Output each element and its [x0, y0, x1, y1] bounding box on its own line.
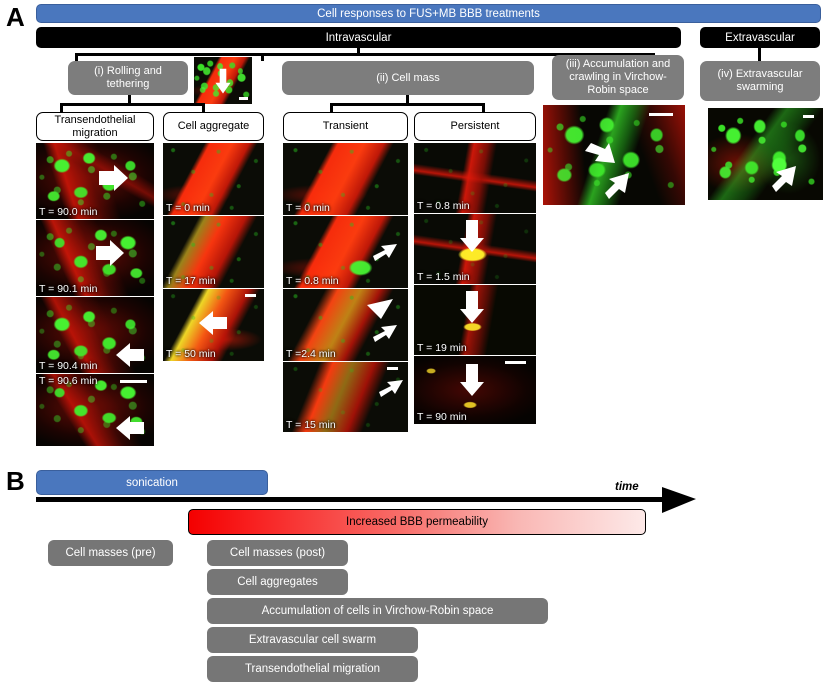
scale-bar: [120, 380, 147, 383]
frame-cell-aggregate-1: T = 0 min: [163, 143, 264, 215]
timestamp: T = 90.0 min: [39, 206, 97, 218]
panel-a-letter: A: [6, 4, 25, 30]
frame-persistent-1: T = 0.8 min: [414, 143, 536, 213]
timestamp: T = 0.8 min: [417, 200, 470, 212]
virchow-robin-image: [543, 105, 685, 205]
frame-transendothelial-4: T = 90.6 min: [36, 374, 154, 446]
time-axis-line: [36, 497, 676, 502]
time-axis-arrowhead: [662, 483, 698, 517]
connector-line: [758, 48, 761, 61]
category-extravascular-swarming: (iv) Extravascular swarming: [700, 61, 820, 101]
frame-transendothelial-3: T = 90.4 min: [36, 297, 154, 373]
timestamp: T = 15 min: [286, 419, 336, 431]
frame-transendothelial-2: T = 90.1 min: [36, 220, 154, 296]
event-bar-cell-aggregates: Cell aggregates: [207, 569, 348, 595]
event-bar-transendothelial-migration: Transendothelial migration: [207, 656, 418, 682]
category-rolling-tethering: (i) Rolling and tethering: [68, 61, 188, 95]
connector-line: [357, 48, 360, 54]
scale-bar: [245, 294, 256, 297]
frame-persistent-3: T = 19 min: [414, 285, 536, 355]
timestamp: T = 50 min: [166, 348, 216, 360]
timestamp: T = 0 min: [166, 202, 210, 214]
connector-line: [330, 103, 485, 106]
sonication-bar: sonication: [36, 470, 268, 495]
panel-a-title-bar: Cell responses to FUS+MB BBB treatments: [36, 4, 821, 23]
scale-bar: [505, 361, 526, 364]
extravascular-swarm-image: [708, 108, 823, 200]
timestamp: T = 1.5 min: [417, 271, 470, 283]
rolling-tethering-inset-image: [194, 57, 252, 104]
frame-cell-aggregate-3: T = 50 min: [163, 289, 264, 361]
connector-line: [202, 103, 205, 112]
event-bar-extravascular-cell-swarm: Extravascular cell swarm: [207, 627, 418, 653]
frame-persistent-4: T = 90 min: [414, 356, 536, 424]
timestamp: T = 90.4 min: [39, 360, 97, 372]
event-bar-cell-masses-post: Cell masses (post): [207, 540, 348, 566]
time-axis-label: time: [615, 481, 639, 493]
connector-line: [261, 53, 264, 61]
scale-bar: [239, 97, 248, 100]
frame-cell-aggregate-2: T = 17 min: [163, 216, 264, 288]
panel-b-letter: B: [6, 468, 25, 494]
connector-line: [60, 103, 63, 112]
timestamp: T =2.4 min: [286, 348, 336, 360]
connector-line: [128, 95, 131, 103]
subcat-transendothelial-migration: Transendothelial migration: [36, 112, 154, 141]
frame-transient-2: T = 0.8 min: [283, 216, 408, 288]
level1-intravascular: Intravascular: [36, 27, 681, 48]
frame-transient-3: T =2.4 min: [283, 289, 408, 361]
connector-line: [482, 103, 485, 112]
level1-extravascular: Extravascular: [700, 27, 820, 48]
connector-line: [406, 95, 409, 103]
subcat-cell-aggregate: Cell aggregate: [163, 112, 264, 141]
scale-bar: [387, 367, 398, 370]
subcat-transient: Transient: [283, 112, 408, 141]
timestamp: T = 90.1 min: [39, 283, 97, 295]
frame-persistent-2: T = 1.5 min: [414, 214, 536, 284]
event-bar-virchow-robin-accumulation: Accumulation of cells in Virchow-Robin s…: [207, 598, 548, 624]
subcat-persistent: Persistent: [414, 112, 536, 141]
connector-line: [60, 103, 205, 106]
timestamp: T = 0 min: [286, 202, 330, 214]
scale-bar: [803, 115, 814, 118]
frame-transient-4: T = 15 min: [283, 362, 408, 432]
connector-line: [75, 53, 78, 61]
timestamp: T = 19 min: [417, 342, 467, 354]
scale-bar: [649, 113, 673, 116]
event-bar-cell-masses-pre: Cell masses (pre): [48, 540, 173, 566]
bbb-permeability-bar: Increased BBB permeability: [188, 509, 646, 535]
timestamp: T = 0.8 min: [286, 275, 339, 287]
timestamp: T = 90.6 min: [39, 375, 97, 387]
frame-transient-1: T = 0 min: [283, 143, 408, 215]
timestamp: T = 90 min: [417, 411, 467, 423]
frame-transendothelial-1: T = 90.0 min: [36, 143, 154, 219]
timestamp: T = 17 min: [166, 275, 216, 287]
category-cell-mass: (ii) Cell mass: [282, 61, 534, 95]
connector-line: [330, 103, 333, 112]
category-virchow-robin: (iii) Accumulation and crawling in Virch…: [552, 55, 684, 100]
